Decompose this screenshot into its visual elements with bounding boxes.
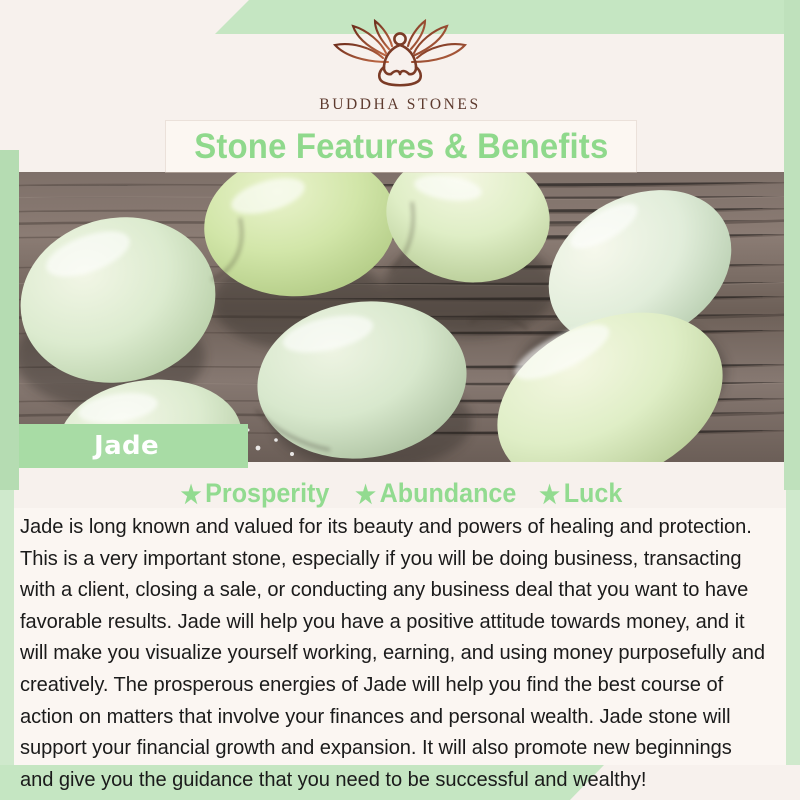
hero-photo bbox=[0, 172, 800, 462]
jade-stones-photo bbox=[0, 172, 800, 462]
benefit-item-abundance: ★Abundance bbox=[355, 478, 516, 510]
stone-name: Jade bbox=[94, 431, 159, 461]
star-icon: ★ bbox=[180, 480, 201, 510]
description-text: Jade is long known and valued for its be… bbox=[20, 512, 769, 796]
decorative-left-green-bar bbox=[0, 150, 19, 490]
benefit-item-prosperity: ★Prosperity bbox=[180, 478, 329, 510]
star-icon: ★ bbox=[355, 480, 376, 510]
benefit-label: Prosperity bbox=[205, 478, 329, 508]
decorative-body-left-edge bbox=[0, 490, 14, 765]
page-title: Stone Features & Benefits bbox=[194, 129, 608, 164]
page-title-box: Stone Features & Benefits bbox=[166, 121, 636, 172]
brand-logo: BUDDHA STONES bbox=[0, 18, 800, 114]
benefit-label: Luck bbox=[564, 478, 623, 508]
poster-canvas: BUDDHA STONES Stone Features & Benefits bbox=[0, 0, 800, 800]
benefit-item-luck: ★Luck bbox=[539, 478, 622, 510]
decorative-body-right-edge bbox=[786, 490, 800, 765]
lotus-meditation-icon bbox=[325, 18, 475, 90]
star-icon: ★ bbox=[539, 480, 560, 510]
description-panel: Jade is long known and valued for its be… bbox=[14, 508, 786, 765]
benefits-row: ★Prosperity★Abundance★Luck bbox=[0, 478, 800, 510]
brand-name: BUDDHA STONES bbox=[0, 96, 800, 114]
stone-name-band: Jade bbox=[19, 424, 248, 468]
benefit-label: Abundance bbox=[379, 478, 516, 508]
